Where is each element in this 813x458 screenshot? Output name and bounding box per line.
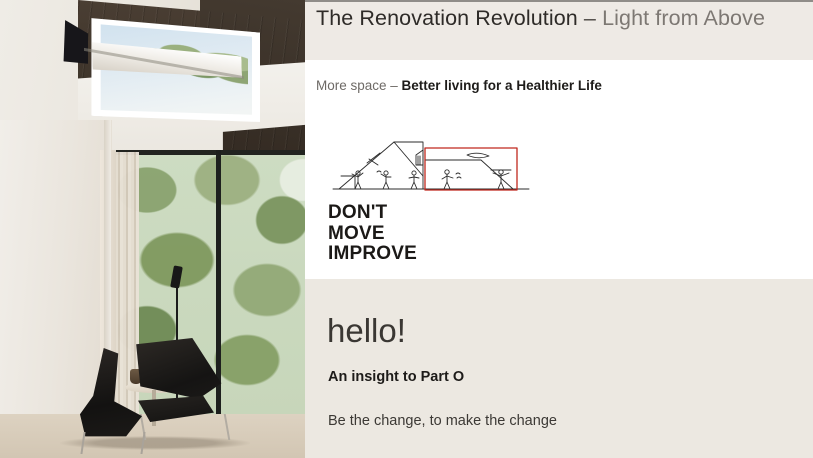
- slogan-line-2: MOVE: [328, 224, 417, 245]
- page-title: The Renovation Revolution – Light from A…: [316, 6, 808, 31]
- subheading: More space – Better living for a Healthi…: [316, 78, 602, 93]
- sketch-low-wall-left: [341, 176, 355, 189]
- slogan-line-1: DON'T: [328, 203, 417, 224]
- sketch-gable-wall: [394, 142, 423, 189]
- sketch-gable-window-bars: [418, 156, 420, 165]
- tagline: Be the change, to make the change: [328, 413, 557, 429]
- interior-photo: [0, 0, 305, 458]
- house-section-sketch: [331, 132, 531, 198]
- slogan-line-3: IMPROVE: [328, 244, 417, 265]
- sketch-gable-window: [416, 150, 423, 165]
- sketch-figure-4: [442, 170, 461, 189]
- content-panel: The Renovation Revolution – Light from A…: [305, 0, 813, 458]
- page-title-subtitle: Light from Above: [602, 6, 765, 30]
- sketch-extension-skylight: [467, 153, 489, 158]
- subheading-light: More space –: [316, 78, 402, 93]
- sketch-figure-5: [491, 170, 511, 189]
- subheading-bold: Better living for a Healthier Life: [402, 78, 602, 93]
- photo-window-mullion: [216, 150, 221, 438]
- sketch-gesture-1: [377, 171, 381, 172]
- lounge-chair-legs: [140, 414, 231, 440]
- insight-subtitle: An insight to Part O: [328, 369, 464, 385]
- sketch-figure-3: [409, 171, 419, 189]
- lounge-chair-front-legs: [80, 432, 145, 454]
- presentation-slide: The Renovation Revolution – Light from A…: [0, 0, 813, 458]
- page-title-dash: –: [578, 6, 602, 30]
- sketch-roof-pitch: [339, 142, 423, 189]
- page-title-main: The Renovation Revolution: [316, 6, 578, 30]
- sketch-gesture-2: [456, 173, 461, 178]
- slogan-dont-move-improve: DON'T MOVE IMPROVE: [328, 203, 417, 265]
- greeting-heading: hello!: [327, 312, 406, 350]
- sketch-figure-2: [377, 171, 391, 189]
